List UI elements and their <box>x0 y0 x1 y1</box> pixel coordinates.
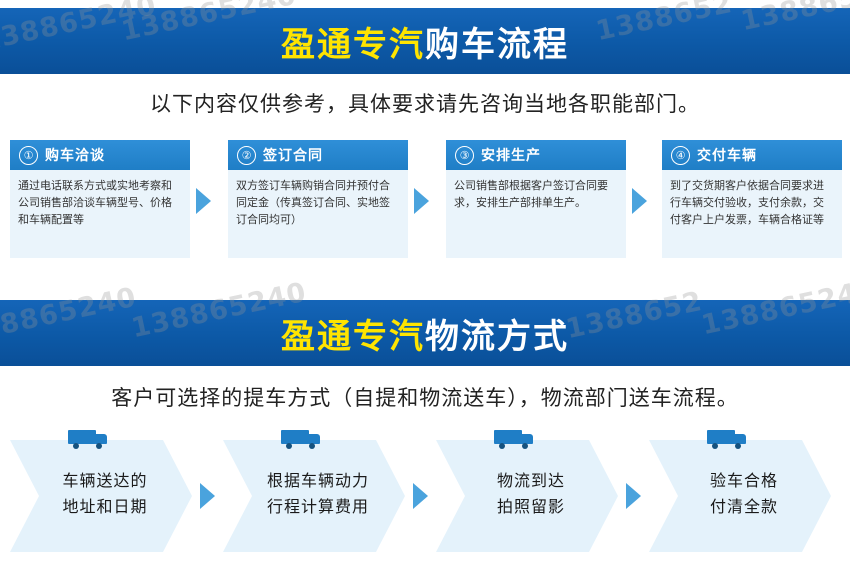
section1-subtitle: 以下内容仅供参考，具体要求请先咨询当地各职能部门。 <box>0 88 850 118</box>
step-number-badge: ② <box>237 146 256 165</box>
logistics-card-line1: 车辆送达的 <box>40 468 170 494</box>
step-title: 购车洽谈 <box>45 145 105 165</box>
logistics-card-line2: 地址和日期 <box>40 494 170 520</box>
logistics-card-line1: 物流到达 <box>466 468 596 494</box>
step-card: ① 购车洽谈 通过电话联系方式或实地考察和公司销售部洽谈车辆型号、价格和车辆配置… <box>10 140 190 258</box>
infographic-page: 138865240 138865240 1388652 1388652 1388… <box>0 0 850 564</box>
logistics-card-text: 验车合格 付清全款 <box>679 468 809 519</box>
step-card: ③ 安排生产 公司销售部根据客户签订合同要求，安排生产部排单生产。 <box>446 140 626 258</box>
logistics-card-line2: 行程计算费用 <box>253 494 383 520</box>
step-header: ④ 交付车辆 <box>662 140 842 170</box>
logistics-arrow-icon <box>413 483 428 509</box>
step-number-badge: ① <box>19 146 38 165</box>
step-card: ④ 交付车辆 到了交货期客户依据合同要求进行车辆交付验收，支付余款，交付客户上户… <box>662 140 842 258</box>
step-arrow-icon <box>196 188 211 214</box>
step-header: ② 签订合同 <box>228 140 408 170</box>
step-arrow-icon <box>414 188 429 214</box>
truck-icon <box>68 428 110 450</box>
logistics-card-line2: 拍照留影 <box>466 494 596 520</box>
section-title-bar-logistics: 盈通专汽物流方式 <box>0 300 850 366</box>
logistics-card-line1: 根据车辆动力 <box>253 468 383 494</box>
logistics-card: 根据车辆动力 行程计算费用 <box>223 440 405 552</box>
step-body: 到了交货期客户依据合同要求进行车辆交付验收，支付余款，交付客户上户发票，车辆合格… <box>662 170 842 228</box>
logistics-card-line2: 付清全款 <box>679 494 809 520</box>
step-body: 公司销售部根据客户签订合同要求，安排生产部排单生产。 <box>446 170 626 211</box>
step-card: ② 签订合同 双方签订车辆购销合同并预付合同定金（传真签订合同、实地签订合同均可… <box>228 140 408 258</box>
logistics-card-text: 物流到达 拍照留影 <box>466 468 596 519</box>
truck-icon <box>494 428 536 450</box>
logistics-card-line1: 验车合格 <box>679 468 809 494</box>
step-number-badge: ④ <box>671 146 690 165</box>
section2-title-brand: 盈通专汽 <box>281 317 425 357</box>
logistics-arrow-icon <box>626 483 641 509</box>
purchase-steps: ① 购车洽谈 通过电话联系方式或实地考察和公司销售部洽谈车辆型号、价格和车辆配置… <box>10 140 842 265</box>
logistics-card: 物流到达 拍照留影 <box>436 440 618 552</box>
logistics-steps: 车辆送达的 地址和日期 根据车辆动力 行程计算费用 物流到达 拍照留影 <box>10 428 842 558</box>
logistics-arrow-icon <box>200 483 215 509</box>
truck-icon <box>281 428 323 450</box>
step-number-badge: ③ <box>455 146 474 165</box>
logistics-card-text: 根据车辆动力 行程计算费用 <box>253 468 383 519</box>
section1-title-main: 购车流程 <box>425 25 569 65</box>
section2-subtitle: 客户可选择的提车方式（自提和物流送车），物流部门送车流程。 <box>0 382 850 412</box>
section1-title-brand: 盈通专汽 <box>281 25 425 65</box>
logistics-card: 验车合格 付清全款 <box>649 440 831 552</box>
step-header: ① 购车洽谈 <box>10 140 190 170</box>
step-title: 签订合同 <box>263 145 323 165</box>
logistics-card: 车辆送达的 地址和日期 <box>10 440 192 552</box>
step-body: 双方签订车辆购销合同并预付合同定金（传真签订合同、实地签订合同均可） <box>228 170 408 228</box>
section-title-bar-purchase: 盈通专汽购车流程 <box>0 8 850 74</box>
step-title: 交付车辆 <box>697 145 757 165</box>
section2-title-main: 物流方式 <box>425 317 569 357</box>
step-arrow-icon <box>632 188 647 214</box>
step-body: 通过电话联系方式或实地考察和公司销售部洽谈车辆型号、价格和车辆配置等 <box>10 170 190 228</box>
logistics-card-text: 车辆送达的 地址和日期 <box>40 468 170 519</box>
step-title: 安排生产 <box>481 145 541 165</box>
step-header: ③ 安排生产 <box>446 140 626 170</box>
truck-icon <box>707 428 749 450</box>
